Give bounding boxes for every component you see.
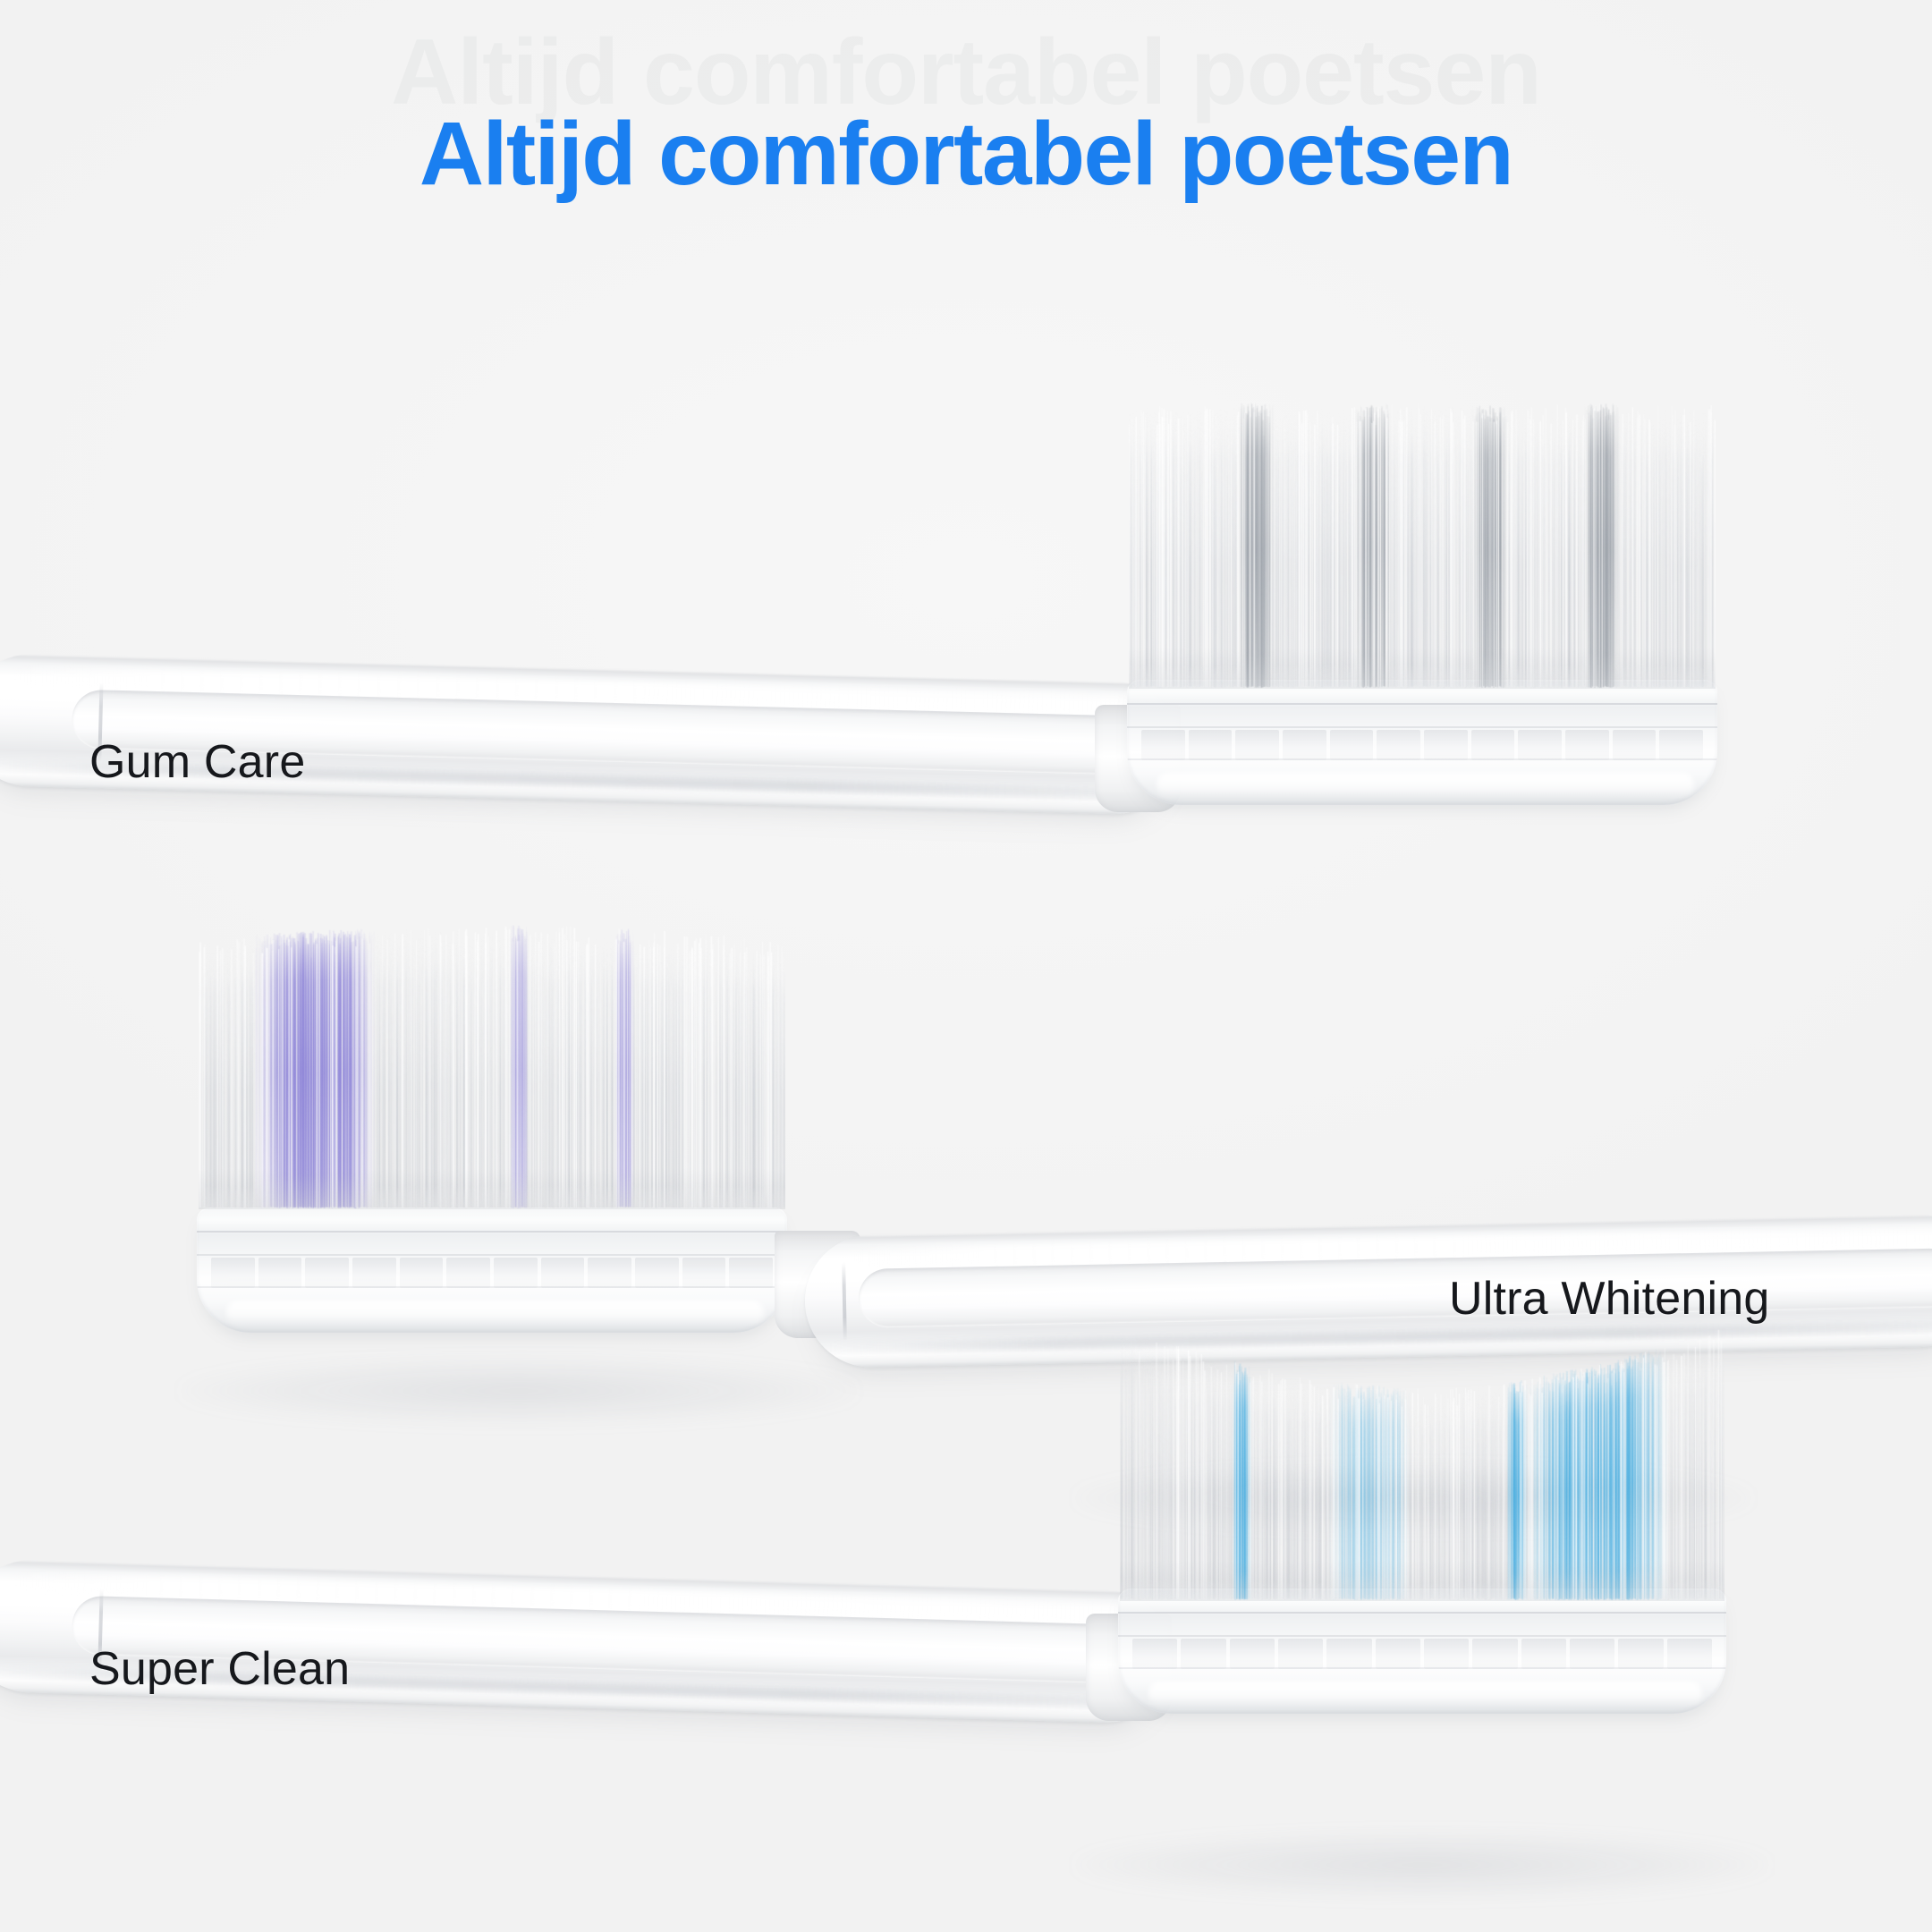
tuft-hole — [588, 1258, 631, 1288]
bristle-field-gum-care — [1129, 394, 1716, 689]
tuft-hole — [352, 1258, 396, 1288]
headline-container: Altijd comfortabel poetsen — [0, 107, 1932, 201]
bristle-tuft-holes-ultra-whitening — [209, 1258, 775, 1288]
plate-seam-line — [1118, 1635, 1726, 1637]
plate-seam-line — [1118, 1612, 1726, 1614]
tuft-hole — [1230, 1639, 1275, 1669]
label-gum-care: Gum Care — [89, 735, 305, 789]
bristle-field-super-clean — [1120, 1315, 1724, 1601]
tuft-hole — [1424, 730, 1468, 760]
tuft-hole — [1565, 730, 1609, 760]
head-base-ultra-whitening — [197, 1207, 787, 1333]
bristle-tuft-holes-gum-care — [1140, 730, 1705, 760]
tuft-hole — [1278, 1639, 1323, 1669]
page-title: Altijd comfortabel poetsen — [419, 107, 1513, 201]
tuft-hole — [258, 1258, 302, 1288]
tuft-hole — [541, 1258, 585, 1288]
tuft-hole — [1659, 730, 1703, 760]
tuft-hole — [1326, 1639, 1371, 1669]
plate-seam-line — [197, 1254, 787, 1256]
plate-seam-line — [197, 1231, 787, 1233]
head-plate-super-clean — [1118, 1589, 1726, 1714]
tuft-hole — [1132, 1639, 1177, 1669]
bristle-tuft-holes-super-clean — [1131, 1639, 1714, 1669]
tuft-hole — [1518, 730, 1562, 760]
handle-seam-ultra-whitening — [842, 1262, 847, 1341]
tuft-hole — [211, 1258, 255, 1288]
tuft-hole — [635, 1258, 679, 1288]
tuft-hole — [400, 1258, 444, 1288]
tuft-hole — [1283, 730, 1326, 760]
tuft-hole — [1667, 1639, 1712, 1669]
tuft-hole — [1472, 1639, 1517, 1669]
tuft-hole — [1189, 730, 1233, 760]
head-base-super-clean — [1118, 1589, 1726, 1714]
head-plate-ultra-whitening — [197, 1207, 787, 1333]
tuft-hole — [1521, 1639, 1566, 1669]
tuft-hole — [729, 1258, 773, 1288]
handle-gum-care[interactable] — [0, 653, 1182, 816]
head-underglow — [1157, 773, 1694, 796]
tuft-hole — [1181, 1639, 1225, 1669]
toothbrush-head-super-clean[interactable]: Super Clean — [0, 1574, 1807, 1932]
tuft-hole — [305, 1258, 349, 1288]
plate-seam-line — [1127, 726, 1717, 728]
head-underglow — [226, 1301, 764, 1324]
contact-shadow-ultra-whitening — [179, 1360, 859, 1422]
tuft-hole — [1613, 730, 1657, 760]
tuft-hole — [1570, 1639, 1614, 1669]
tuft-hole — [1330, 730, 1374, 760]
head-plate-gum-care — [1127, 680, 1717, 805]
tuft-hole — [446, 1258, 490, 1288]
tuft-hole — [1235, 730, 1279, 760]
tuft-hole — [1141, 730, 1185, 760]
contact-shadow-super-clean — [1073, 1834, 1771, 1896]
tuft-hole — [1424, 1639, 1469, 1669]
bristle-field-ultra-whitening — [199, 912, 785, 1209]
tuft-hole — [682, 1258, 726, 1288]
tuft-hole — [1376, 1639, 1420, 1669]
tuft-hole — [1618, 1639, 1663, 1669]
tuft-hole — [494, 1258, 538, 1288]
product-image-canvas: Altijd comfortabel poetsen Altijd comfor… — [0, 0, 1932, 1932]
tuft-hole — [1377, 730, 1420, 760]
head-underglow — [1148, 1682, 1702, 1705]
tuft-hole — [1471, 730, 1515, 760]
label-super-clean: Super Clean — [89, 1642, 350, 1696]
head-base-gum-care — [1127, 680, 1717, 805]
plate-seam-line — [1127, 703, 1717, 705]
